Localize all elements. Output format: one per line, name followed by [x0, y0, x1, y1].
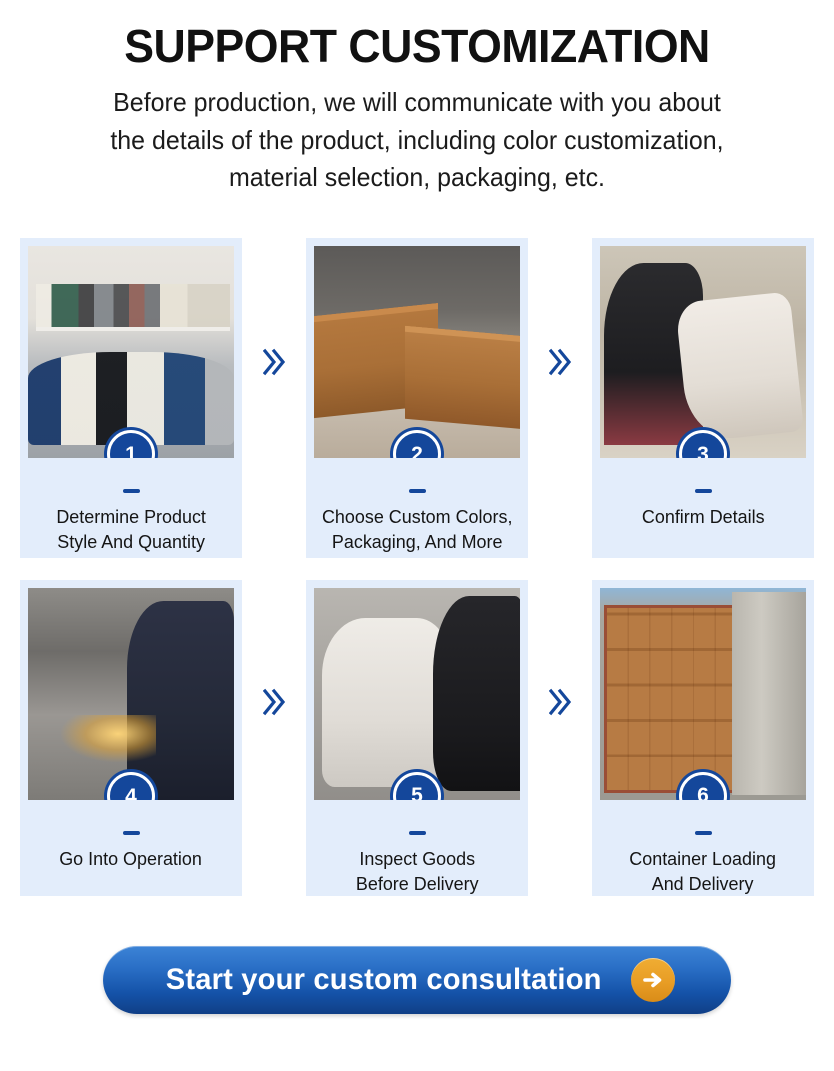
- steps-row-2: 4 Go Into Operation 5: [20, 580, 814, 896]
- worker-assembling-chair-photo: [600, 246, 806, 458]
- step-divider-dash-5: [409, 831, 426, 835]
- step-card-2[interactable]: 2 Choose Custom Colors, Packaging, And M…: [306, 238, 528, 558]
- step-arrow-5-to-6: [549, 580, 571, 896]
- step-arrow-2-to-3: [549, 238, 571, 558]
- step-photo-3: 3: [600, 246, 806, 458]
- step-label-2-line-2: Packaging, And More: [322, 529, 512, 554]
- step-arrow-1-to-2: [263, 238, 285, 558]
- step-photo-4: 4: [28, 588, 234, 800]
- step-label-1-line-2: Style And Quantity: [56, 529, 206, 554]
- step-label-4: Go Into Operation: [56, 846, 206, 871]
- step-label-6-line-1: Container Loading: [630, 846, 777, 871]
- step-label-2: Choose Custom Colors, Packaging, And Mor…: [318, 504, 516, 554]
- step-arrow-4-to-5: [263, 580, 285, 896]
- step-label-3: Confirm Details: [638, 504, 768, 529]
- step-card-6[interactable]: 6 Container Loading And Delivery: [592, 580, 814, 896]
- step-label-4-line-1: Go Into Operation: [60, 846, 203, 871]
- step-photo-5: 5: [314, 588, 520, 800]
- step-card-4[interactable]: 4 Go Into Operation: [20, 580, 242, 896]
- step-divider-dash-4: [123, 831, 140, 835]
- step-divider-dash-2: [409, 489, 426, 493]
- step-label-1: Determine Product Style And Quantity: [52, 504, 209, 554]
- measuring-chair-inspection-photo: [314, 588, 520, 800]
- page-title: SUPPORT CUSTOMIZATION: [13, 22, 822, 70]
- step-card-5[interactable]: 5 Inspect Goods Before Delivery: [306, 580, 528, 896]
- metal-grinding-sparks-photo: [28, 588, 234, 800]
- start-custom-consultation-button[interactable]: Start your custom consultation: [103, 946, 731, 1014]
- chair-showroom-photo: [28, 246, 234, 458]
- step-label-6: Container Loading And Delivery: [626, 846, 780, 896]
- arrow-right-icon[interactable]: [631, 958, 675, 1002]
- process-steps: 1 Determine Product Style And Quantity 2: [20, 238, 814, 918]
- cta-section: Start your custom consultation: [0, 946, 834, 1014]
- page-subtitle: Before production, we will communicate w…: [38, 84, 796, 196]
- subtitle-line-3: material selection, packaging, etc.: [38, 159, 796, 196]
- subtitle-line-1: Before production, we will communicate w…: [38, 84, 796, 121]
- step-photo-1: 1: [28, 246, 234, 458]
- step-label-2-line-1: Choose Custom Colors,: [322, 504, 512, 529]
- step-label-5-line-2: Before Delivery: [356, 871, 479, 896]
- step-label-5-line-1: Inspect Goods: [356, 846, 479, 871]
- subtitle-line-2: the details of the product, including co…: [38, 122, 796, 159]
- steps-row-1: 1 Determine Product Style And Quantity 2: [20, 238, 814, 558]
- support-customization-page: SUPPORT CUSTOMIZATION Before production,…: [0, 0, 834, 1071]
- loaded-shipping-container-photo: [600, 588, 806, 800]
- step-divider-dash-1: [123, 489, 140, 493]
- step-divider-dash-6: [695, 831, 712, 835]
- step-label-6-line-2: And Delivery: [630, 871, 777, 896]
- step-card-1[interactable]: 1 Determine Product Style And Quantity: [20, 238, 242, 558]
- step-photo-2: 2: [314, 246, 520, 458]
- cta-label: Start your custom consultation: [166, 963, 602, 997]
- step-divider-dash-3: [695, 489, 712, 493]
- step-label-1-line-1: Determine Product: [56, 504, 206, 529]
- page-header: SUPPORT CUSTOMIZATION Before production,…: [0, 0, 834, 197]
- step-photo-6: 6: [600, 588, 806, 800]
- step-card-3[interactable]: 3 Confirm Details: [592, 238, 814, 558]
- step-label-3-line-1: Confirm Details: [642, 504, 765, 529]
- step-label-5: Inspect Goods Before Delivery: [352, 846, 482, 896]
- cardboard-packing-boxes-photo: [314, 246, 520, 458]
